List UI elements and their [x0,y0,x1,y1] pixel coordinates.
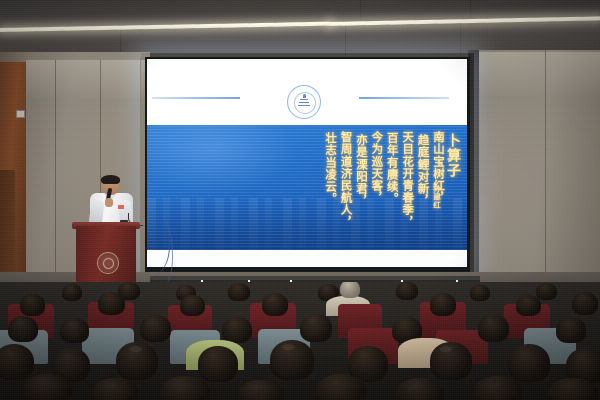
wall-light-sheen [26,60,150,100]
audience-head [340,282,360,298]
audience-head [198,346,238,382]
audience-head [98,292,125,315]
audience-head [548,378,598,400]
podium-university-seal-icon [97,252,119,274]
poem-column: 壮志当凌云。 [325,132,337,205]
audience-area [0,282,600,400]
presenter-hand [105,198,113,207]
audience-head [140,315,171,342]
audience-head [228,283,250,301]
audience-head [0,344,34,380]
seal-pagoda-mark [298,94,310,107]
ceiling-seam [345,24,346,60]
audience-head [24,374,72,400]
audience-head [180,295,205,316]
poem-title: 卜算子 [444,133,461,178]
slide-rule-left [152,97,240,99]
poem-title-block: 卜算子 孙建红 [403,125,461,250]
wall-seam [545,50,546,302]
audience-head [572,292,598,315]
audience-head [20,294,45,316]
front-table-edge [150,276,480,280]
wall-switch-plate[interactable] [16,110,25,118]
glasses-icon [103,183,118,187]
audience-head [300,314,332,342]
audience-head [474,376,522,400]
audience-head [478,315,509,342]
slide-rule-right [359,97,449,99]
audience-head [556,317,586,343]
audience-head [470,285,490,301]
audience-head [508,344,550,382]
audience-head [396,378,444,400]
hair-highlight [282,344,295,350]
audience-head [430,293,456,316]
photo-scene: 南山宝树红， 趋庭鲤对新， 天目花开青春季， 百年有赓续。 今为巡天客， 亦是溧… [0,0,600,400]
poem-column: 今为巡天客， [371,131,383,204]
audience-head [516,295,541,316]
audience-head [238,380,284,400]
university-seal-icon [287,85,321,119]
poem-author: 孙建红 [432,185,441,209]
audience-head [536,283,557,300]
audience-head [160,376,210,400]
audience-head [396,282,418,300]
poem-column: 亦是溧阳君， [356,134,368,207]
audience-head [62,284,82,301]
presenter-badge [118,205,124,209]
poem-column: 百年有赓续。 [386,132,398,205]
audience-head [8,316,38,342]
wall-light-sheen [479,52,600,98]
hair-highlight [440,346,452,352]
ceiling-seam [460,22,461,56]
slide-header [147,59,467,125]
slide-footer [147,250,467,267]
audience-head [262,293,288,316]
audience-head [60,318,89,343]
hair-highlight [130,346,142,352]
poem-column: 智周道济民航人， [340,131,352,228]
audience-head [222,317,252,343]
projection-screen: 南山宝树红， 趋庭鲤对新， 天目花开青春季， 百年有赓续。 今为巡天客， 亦是溧… [147,59,467,267]
wall-seam [55,60,56,302]
audience-head [92,378,138,400]
audience-head [316,374,366,400]
